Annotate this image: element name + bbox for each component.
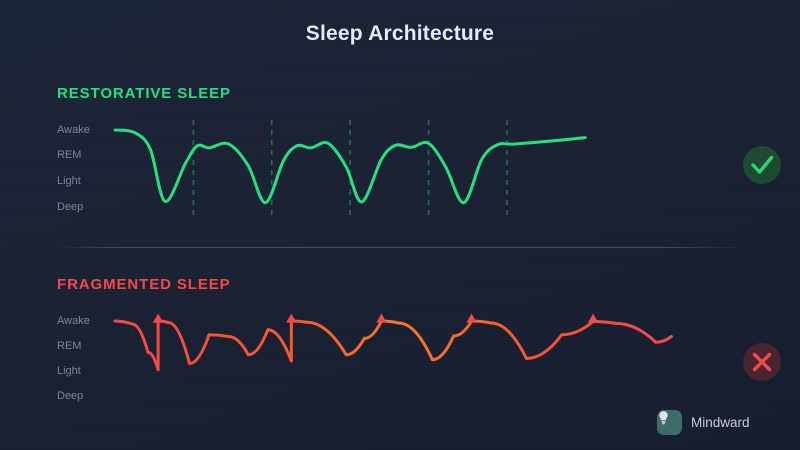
hypnogram-plot (0, 0, 800, 450)
brand-logo: Mindward (657, 410, 750, 435)
fragmented-sleep-line (115, 321, 671, 370)
arousal-marker-group (153, 314, 598, 323)
lightbulb-glyph (657, 410, 670, 425)
fragmented-verdict-badge (743, 343, 781, 381)
arousal-marker-4 (466, 314, 476, 323)
lightbulb-icon (657, 410, 682, 435)
arousal-marker-5 (588, 314, 598, 323)
arousal-marker-2 (286, 314, 296, 323)
arousal-marker-3 (376, 314, 386, 323)
brand-name: Mindward (691, 415, 750, 430)
chart-canvas: Sleep Architecture RESTORATIVE SLEEP FRA… (0, 0, 800, 450)
restorative-verdict-badge (743, 146, 781, 184)
arousal-marker-1 (153, 314, 163, 323)
